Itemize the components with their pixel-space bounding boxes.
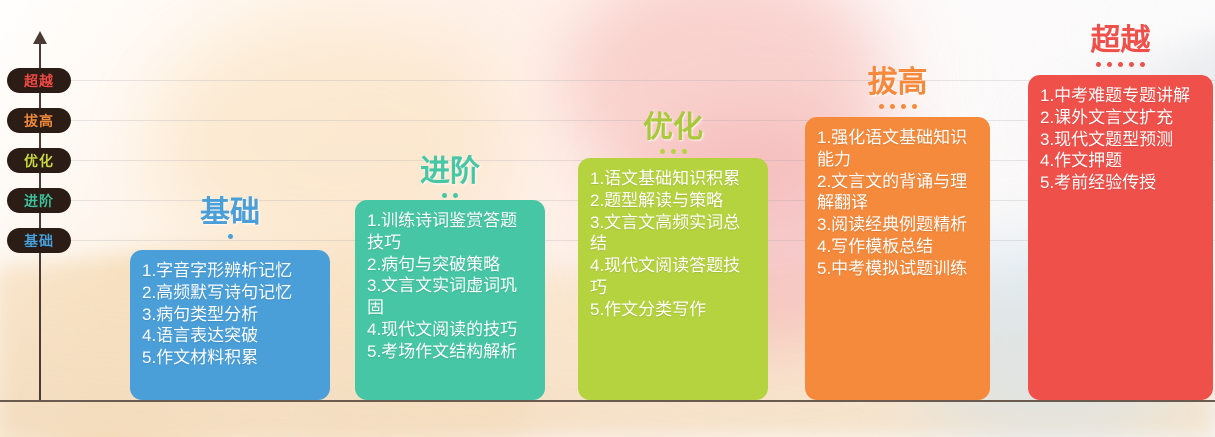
stage-column-1[interactable]: 基础 1.字音字形辨析记忆 2.高频默写诗句记忆 3.病句类型分析 4.语言表达… [130, 0, 330, 437]
list-item: 5.考场作文结构解析 [367, 341, 533, 363]
list-item: 3.阅读经典例题精析 [817, 214, 978, 236]
y-axis-label-pill: 优化 [7, 148, 71, 173]
list-item: 3.文言文实词虚词巩固 [367, 275, 533, 319]
stage-dots [578, 149, 768, 154]
stage-item-list: 1.强化语文基础知识能力 2.文言文的背诵与理解翻译 3.阅读经典例题精析 4.… [817, 127, 978, 279]
stage-title: 进阶 [355, 157, 545, 187]
list-item: 2.课外文言文扩充 [1040, 107, 1201, 129]
y-axis-line [39, 43, 41, 400]
y-axis-label-text: 进阶 [24, 191, 54, 211]
stage-item-list: 1.中考难题专题讲解 2.课外文言文扩充 3.现代文题型预测 4.作文押题 5.… [1040, 85, 1201, 194]
y-axis-label-pill: 基础 [7, 228, 71, 253]
list-item: 4.现代文阅读答题技巧 [590, 255, 756, 299]
stage-column-3[interactable]: 优化 1.语文基础知识积累 2.题型解读与策略 3.文言文高频实词总结 4.现代… [578, 0, 768, 437]
y-axis-label-pill: 拔高 [7, 108, 71, 133]
stage-dots [355, 193, 545, 198]
stage-card[interactable]: 1.中考难题专题讲解 2.课外文言文扩充 3.现代文题型预测 4.作文押题 5.… [1028, 75, 1213, 400]
list-item: 3.现代文题型预测 [1040, 129, 1201, 151]
stage-dots [130, 234, 330, 239]
list-item: 4.写作模板总结 [817, 236, 978, 258]
y-axis-label-text: 优化 [24, 151, 54, 171]
list-item: 4.语言表达突破 [142, 325, 318, 347]
stage-title: 超越 [1028, 26, 1213, 56]
y-axis-label-pill: 超越 [7, 68, 71, 93]
stage-card[interactable]: 1.字音字形辨析记忆 2.高频默写诗句记忆 3.病句类型分析 4.语言表达突破 … [130, 250, 330, 400]
stage-title: 拔高 [805, 68, 990, 98]
list-item: 2.病句与突破策略 [367, 254, 533, 276]
list-item: 4.作文押题 [1040, 150, 1201, 172]
stage-card[interactable]: 1.强化语文基础知识能力 2.文言文的背诵与理解翻译 3.阅读经典例题精析 4.… [805, 117, 990, 400]
list-item: 1.中考难题专题讲解 [1040, 85, 1201, 107]
list-item: 4.现代文阅读的技巧 [367, 319, 533, 341]
stage-item-list: 1.训练诗词鉴赏答题技巧 2.病句与突破策略 3.文言文实词虚词巩固 4.现代文… [367, 210, 533, 362]
stage-item-list: 1.语文基础知识积累 2.题型解读与策略 3.文言文高频实词总结 4.现代文阅读… [590, 168, 756, 320]
stage-column-5[interactable]: 超越 1.中考难题专题讲解 2.课外文言文扩充 3.现代文题型预测 4.作文押题… [1028, 0, 1213, 437]
stage-column-4[interactable]: 拔高 1.强化语文基础知识能力 2.文言文的背诵与理解翻译 3.阅读经典例题精析… [805, 0, 990, 437]
list-item: 1.训练诗词鉴赏答题技巧 [367, 210, 533, 254]
list-item: 1.语文基础知识积累 [590, 168, 756, 190]
stage-title: 基础 [130, 198, 330, 228]
stage-card[interactable]: 1.语文基础知识积累 2.题型解读与策略 3.文言文高频实词总结 4.现代文阅读… [578, 158, 768, 400]
list-item: 5.作文分类写作 [590, 299, 756, 321]
stage-item-list: 1.字音字形辨析记忆 2.高频默写诗句记忆 3.病句类型分析 4.语言表达突破 … [142, 260, 318, 369]
list-item: 2.文言文的背诵与理解翻译 [817, 171, 978, 215]
y-axis-label-pill: 进阶 [7, 188, 71, 213]
stage-dots [805, 104, 990, 109]
y-axis-label-text: 超越 [24, 71, 54, 91]
stage-title: 优化 [578, 113, 768, 143]
list-item: 3.病句类型分析 [142, 304, 318, 326]
stage-card[interactable]: 1.训练诗词鉴赏答题技巧 2.病句与突破策略 3.文言文实词虚词巩固 4.现代文… [355, 200, 545, 400]
list-item: 1.强化语文基础知识能力 [817, 127, 978, 171]
list-item: 2.高频默写诗句记忆 [142, 282, 318, 304]
list-item: 3.文言文高频实词总结 [590, 212, 756, 256]
list-item: 5.考前经验传授 [1040, 172, 1201, 194]
stage-chart-canvas: 超越 拔高 优化 进阶 基础 基础 1.字音字形辨析记忆 2.高频默写诗句记忆 … [0, 0, 1215, 437]
list-item: 5.作文材料积累 [142, 347, 318, 369]
list-item: 1.字音字形辨析记忆 [142, 260, 318, 282]
stage-column-2[interactable]: 进阶 1.训练诗词鉴赏答题技巧 2.病句与突破策略 3.文言文实词虚词巩固 4.… [355, 0, 545, 437]
stage-dots [1028, 62, 1213, 67]
y-axis-label-text: 基础 [24, 231, 54, 251]
y-axis-label-text: 拔高 [24, 111, 54, 131]
list-item: 2.题型解读与策略 [590, 190, 756, 212]
list-item: 5.中考模拟试题训练 [817, 258, 978, 280]
